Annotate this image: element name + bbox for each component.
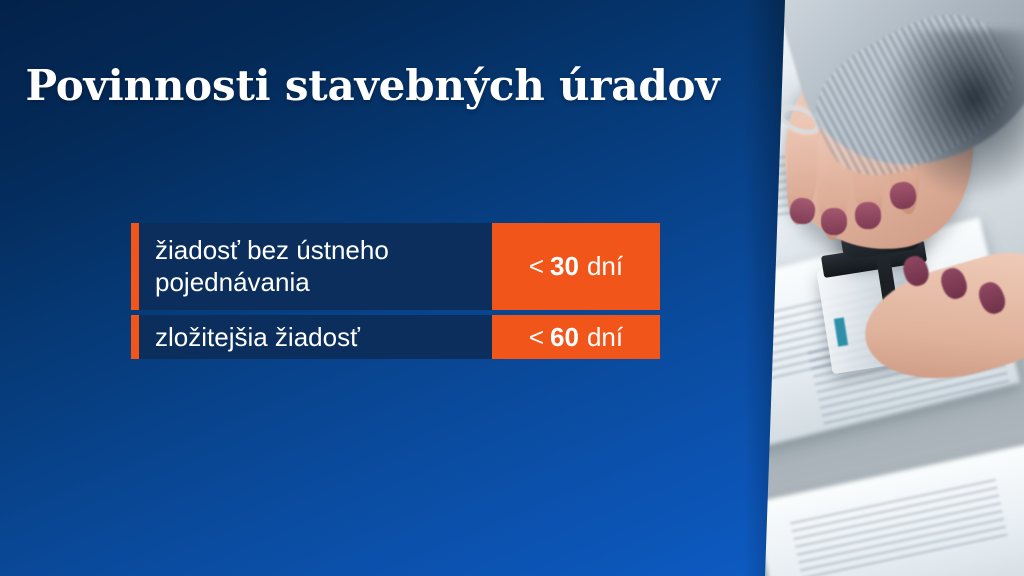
table-row: žiadosť bez ústneho pojednávania <30dní [131, 223, 660, 310]
row-accent-bar [131, 315, 139, 359]
row-value-unit: dní [587, 322, 623, 353]
row-accent-bar [131, 223, 139, 310]
photo-shadow [884, 30, 1024, 200]
less-than-icon: < [529, 251, 544, 282]
table-row: zložitejšia žiadosť <60dní [131, 315, 660, 359]
row-label: zložitejšia žiadosť [139, 315, 492, 359]
row-label: žiadosť bez ústneho pojednávania [139, 223, 492, 310]
deadlines-table: žiadosť bez ústneho pojednávania <30dní … [131, 223, 660, 359]
less-than-icon: < [529, 322, 544, 353]
row-value-badge: <60dní [492, 315, 660, 359]
row-value-number: 60 [550, 322, 579, 353]
fingernail [821, 208, 847, 235]
page-title: Povinnosti stavebných úradov [0, 62, 745, 109]
row-value-unit: dní [587, 251, 623, 282]
row-value-number: 30 [550, 251, 579, 282]
row-value-badge: <30dní [492, 223, 660, 310]
slide-root: Povinnosti stavebných úradov žiadosť bez… [0, 0, 1024, 576]
